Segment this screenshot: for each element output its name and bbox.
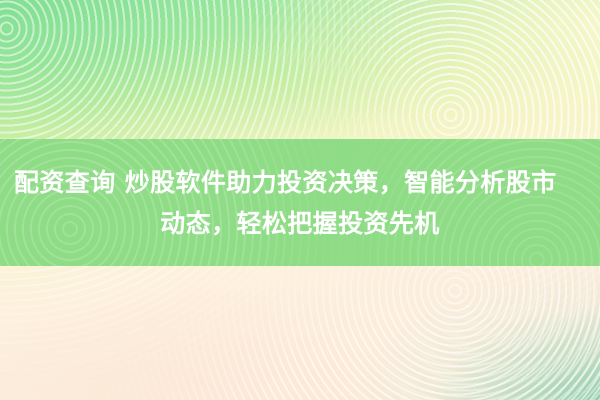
promo-banner: 配资查询 炒股软件助力投资决策，智能分析股市 动态，轻松把握投资先机 [0, 0, 600, 400]
headline-band: 配资查询 炒股软件助力投资决策，智能分析股市 动态，轻松把握投资先机 [0, 139, 600, 266]
headline-line-1: 配资查询 炒股软件助力投资决策，智能分析股市 [14, 162, 586, 203]
headline-line-2: 动态，轻松把握投资先机 [14, 203, 586, 244]
banner-headline: 配资查询 炒股软件助力投资决策，智能分析股市 动态，轻松把握投资先机 [0, 162, 600, 244]
